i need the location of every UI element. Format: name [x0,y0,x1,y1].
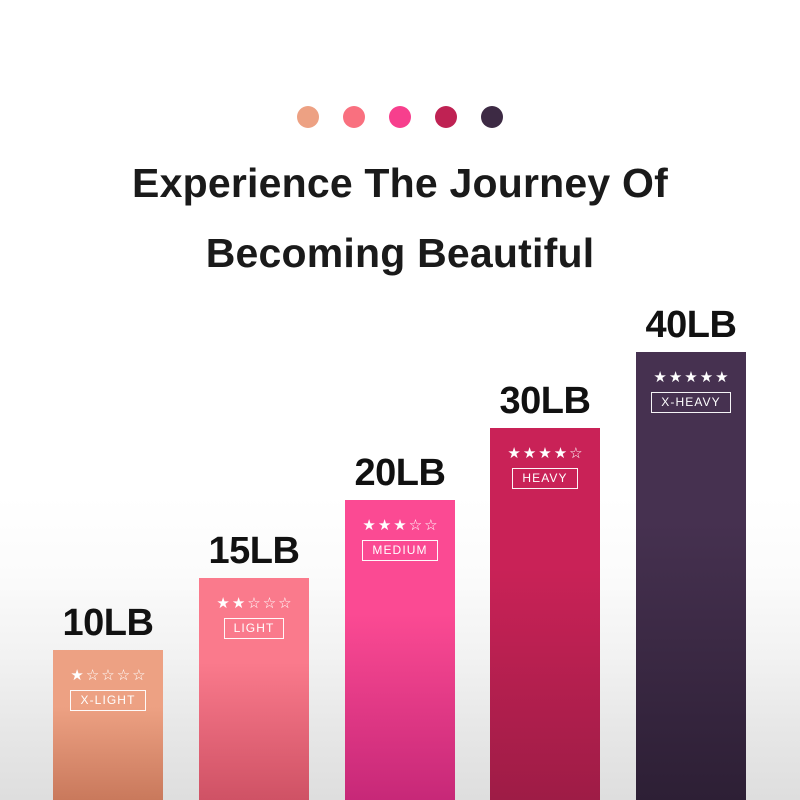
bar-weight-label: 10LB [63,602,154,645]
bar-content: ★☆☆☆☆X-LIGHT [53,668,163,711]
star-rating: ★★★☆☆ [362,518,437,533]
star-empty-icon: ☆ [263,596,276,611]
star-empty-icon: ☆ [86,668,99,683]
star-filled-icon: ★ [507,446,520,461]
star-filled-icon: ★ [523,446,536,461]
bar-weight-label: 40LB [646,304,737,347]
star-empty-icon: ☆ [424,518,437,533]
star-filled-icon: ★ [70,668,83,683]
poster-root: Experience The Journey Of Becoming Beaut… [0,0,800,800]
resistance-level-badge: X-LIGHT [70,690,145,711]
star-filled-icon: ★ [216,596,229,611]
bar-weight-label: 30LB [500,380,591,423]
bar-weight-label: 20LB [355,452,446,495]
star-filled-icon: ★ [362,518,375,533]
star-filled-icon: ★ [684,370,697,385]
star-rating: ★★★★☆ [507,446,582,461]
bar-column[interactable]: ★★☆☆☆LIGHT [199,578,309,800]
resistance-level-badge: X-HEAVY [651,392,731,413]
star-empty-icon: ☆ [101,668,114,683]
bar-content: ★★★★☆HEAVY [490,446,600,489]
resistance-level-badge: HEAVY [512,468,577,489]
star-filled-icon: ★ [653,370,666,385]
star-empty-icon: ☆ [132,668,145,683]
bar-group-20lb[interactable]: 20LB★★★☆☆MEDIUM [345,500,455,800]
resistance-level-badge: MEDIUM [362,540,437,561]
star-empty-icon: ☆ [117,668,130,683]
star-empty-icon: ☆ [569,446,582,461]
star-rating: ★★★★★ [653,370,728,385]
star-filled-icon: ★ [378,518,391,533]
resistance-level-badge: LIGHT [224,618,285,639]
bar-column[interactable]: ★★★☆☆MEDIUM [345,500,455,800]
star-filled-icon: ★ [700,370,713,385]
bar-content: ★★☆☆☆LIGHT [199,596,309,639]
star-filled-icon: ★ [715,370,728,385]
resistance-bar-chart: 10LB★☆☆☆☆X-LIGHT15LB★★☆☆☆LIGHT20LB★★★☆☆M… [0,0,800,800]
star-filled-icon: ★ [554,446,567,461]
bar-group-10lb[interactable]: 10LB★☆☆☆☆X-LIGHT [53,650,163,800]
star-filled-icon: ★ [669,370,682,385]
bar-column[interactable]: ★☆☆☆☆X-LIGHT [53,650,163,800]
star-rating: ★☆☆☆☆ [70,668,145,683]
bar-content: ★★★★★X-HEAVY [636,370,746,413]
star-filled-icon: ★ [232,596,245,611]
bar-column[interactable]: ★★★★☆HEAVY [490,428,600,800]
bar-group-40lb[interactable]: 40LB★★★★★X-HEAVY [636,352,746,800]
bar-column[interactable]: ★★★★★X-HEAVY [636,352,746,800]
star-empty-icon: ☆ [247,596,260,611]
bar-group-30lb[interactable]: 30LB★★★★☆HEAVY [490,428,600,800]
bar-group-15lb[interactable]: 15LB★★☆☆☆LIGHT [199,578,309,800]
star-filled-icon: ★ [393,518,406,533]
star-empty-icon: ☆ [409,518,422,533]
star-filled-icon: ★ [538,446,551,461]
star-rating: ★★☆☆☆ [216,596,291,611]
bar-content: ★★★☆☆MEDIUM [345,518,455,561]
bar-weight-label: 15LB [209,530,300,573]
star-empty-icon: ☆ [278,596,291,611]
